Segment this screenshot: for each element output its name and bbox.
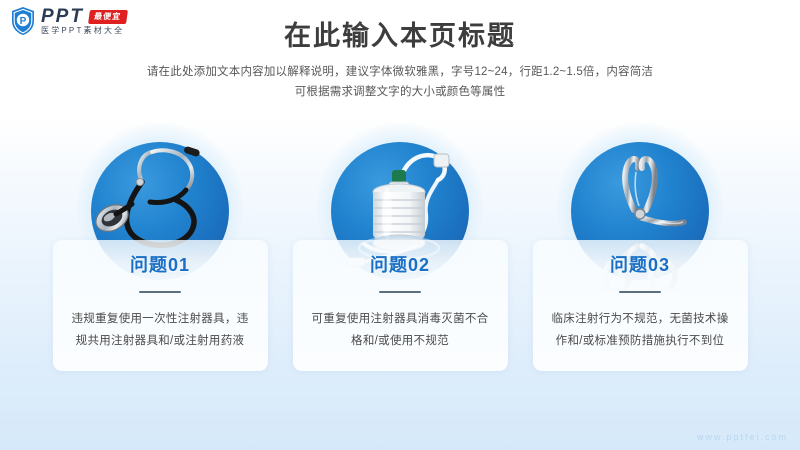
page-title: 在此输入本页标题	[0, 14, 800, 53]
watermark: www.pptfei.com	[697, 432, 788, 442]
card-label-3: 问题03	[547, 256, 734, 274]
content-card-2: 问题02 可重复使用注射器具消毒灭菌不合格和/或使用不规范	[293, 240, 508, 371]
card-label-2: 问题02	[307, 256, 494, 274]
page-subtitle: 请在此处添加文本内容加以解释说明，建议字体微软雅黑，字号12~24，行距1.2~…	[0, 62, 800, 102]
card-divider	[139, 291, 181, 293]
card-body-2: 可重复使用注射器具消毒灭菌不合格和/或使用不规范	[307, 308, 494, 353]
card-label-1: 问题01	[67, 256, 254, 274]
content-card-3: 问题03 临床注射行为不规范，无菌技术操作和/或标准预防措施执行不到位	[533, 240, 748, 371]
card-body-3: 临床注射行为不规范，无菌技术操作和/或标准预防措施执行不到位	[547, 308, 734, 353]
card-divider	[379, 291, 421, 293]
content-column-1[interactable]: 问题01 违规重复使用一次性注射器具，违规共用注射器具和/或注射用药液	[53, 128, 268, 371]
content-column-3[interactable]: 问题03 临床注射行为不规范，无菌技术操作和/或标准预防措施执行不到位	[533, 128, 748, 371]
content-columns: 问题01 违规重复使用一次性注射器具，违规共用注射器具和/或注射用药液	[0, 128, 800, 371]
content-card-1: 问题01 违规重复使用一次性注射器具，违规共用注射器具和/或注射用药液	[53, 240, 268, 371]
subtitle-line-2: 可根据需求调整文字的大小或颜色等属性	[0, 82, 800, 102]
content-column-2[interactable]: 问题02 可重复使用注射器具消毒灭菌不合格和/或使用不规范	[293, 128, 508, 371]
subtitle-line-1: 请在此处添加文本内容加以解释说明，建议字体微软雅黑，字号12~24，行距1.2~…	[0, 62, 800, 82]
card-body-1: 违规重复使用一次性注射器具，违规共用注射器具和/或注射用药液	[67, 308, 254, 353]
card-divider	[619, 291, 661, 293]
